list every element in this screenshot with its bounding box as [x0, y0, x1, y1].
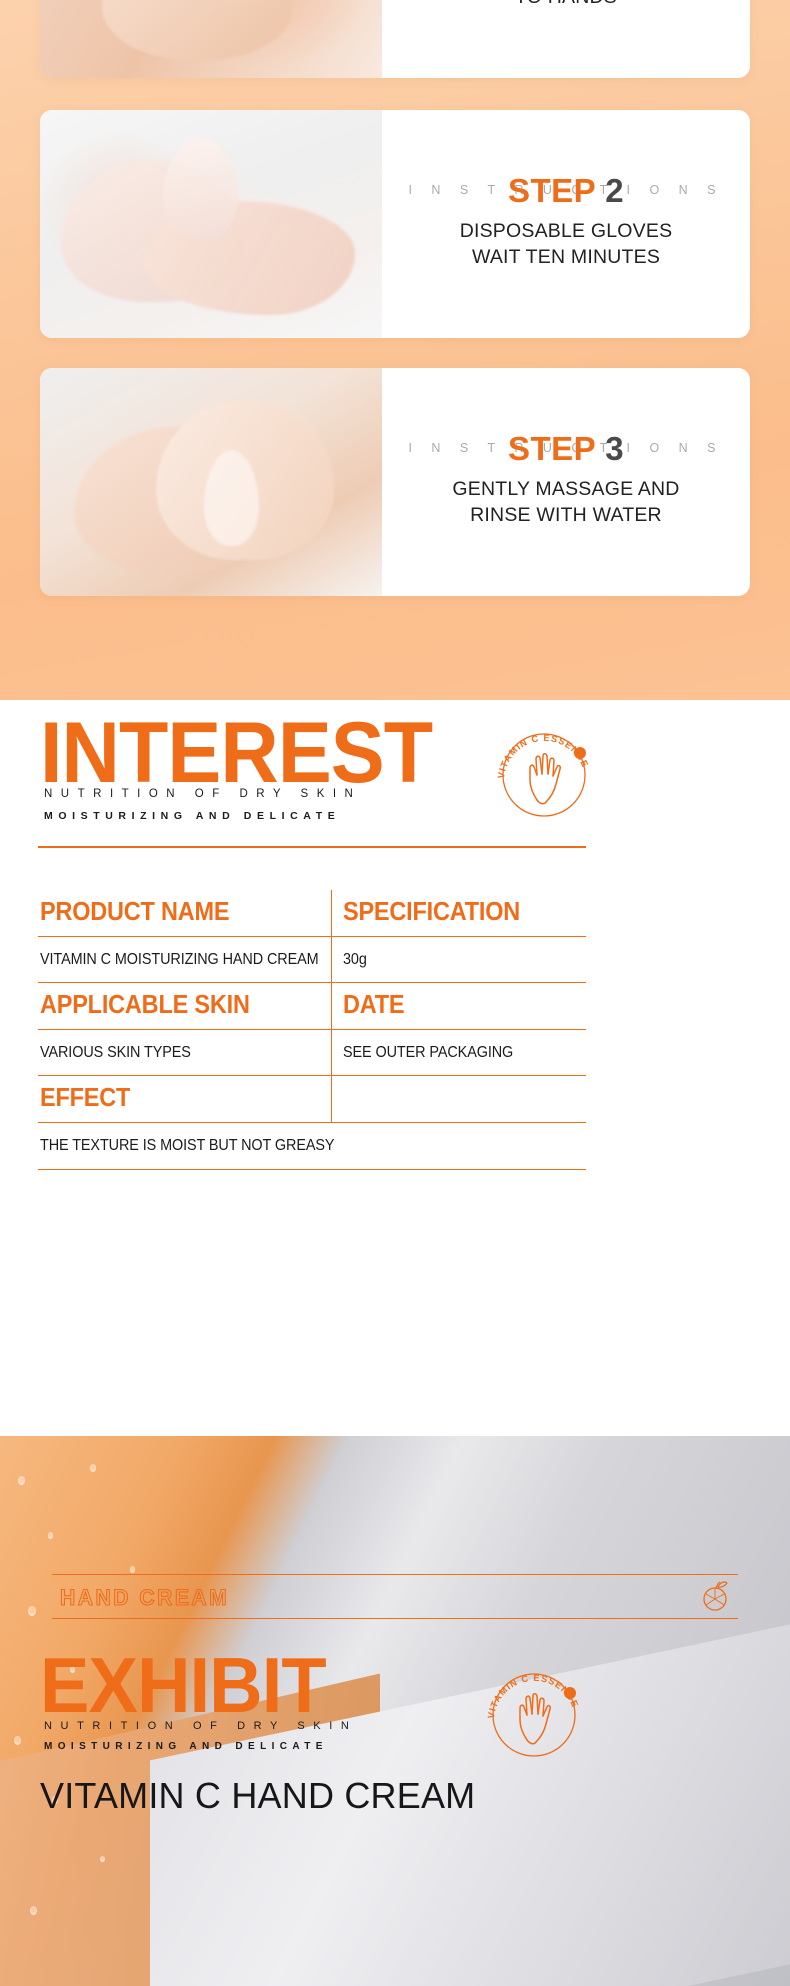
exhibit-heading-block: EXHIBIT NUTRITION OF DRY SKIN MOISTURIZI…: [0, 1648, 790, 1778]
table-row: APPLICABLE SKIN DATE: [38, 983, 586, 1030]
step-2-photo: [40, 110, 382, 338]
orange-fruit-icon: [700, 1578, 732, 1612]
step-2-label: STEP 2: [508, 172, 624, 209]
step-3-line-1: GENTLY MASSAGE AND: [452, 477, 679, 503]
table-header-cell-empty: [332, 1076, 586, 1123]
step-2-text: I N S T R U C T I O N S STEP 2 DISPOSABL…: [382, 110, 750, 338]
interest-heading-block: INTEREST NUTRITION OF DRY SKIN MOISTURIZ…: [0, 700, 790, 850]
product-detail-page: I N S T R U C T I O N S STEP 1 APPLY EVE…: [0, 0, 790, 1986]
value-date: SEE OUTER PACKAGING: [343, 1045, 569, 1061]
step-3-photo: [40, 368, 382, 596]
value-effect: THE TEXTURE IS MOIST BUT NOT GREASY: [40, 1138, 548, 1154]
vitamin-c-essence-badge: VITAMIN C ESSENCE: [482, 1662, 586, 1766]
step-card-1: I N S T R U C T I O N S STEP 1 APPLY EVE…: [40, 0, 750, 78]
table-header-cell: APPLICABLE SKIN: [38, 983, 332, 1030]
hand-icon: [530, 754, 560, 804]
table-header-cell: SPECIFICATION: [332, 890, 586, 937]
hand-cream-rule-top: [52, 1574, 738, 1575]
step-2-line-2: WAIT TEN MINUTES: [460, 245, 673, 271]
header-specification: SPECIFICATION: [343, 900, 566, 926]
interest-divider: [38, 846, 586, 848]
step-3-line-2: RINSE WITH WATER: [452, 503, 679, 529]
interest-overlay-tagline: MOISTURIZING AND DELICATE: [44, 810, 340, 822]
interest-title: INTEREST: [40, 714, 432, 793]
value-product-name: VITAMIN C MOISTURIZING HAND CREAM: [40, 952, 311, 968]
exhibit-title: EXHIBIT: [40, 1648, 326, 1722]
specification-table: PRODUCT NAME SPECIFICATION VITAMIN C MOI…: [38, 890, 586, 1170]
table-row: VITAMIN C MOISTURIZING HAND CREAM 30g: [38, 937, 586, 983]
orange-dot-icon: [564, 1687, 576, 1699]
step-3-label: STEP 3: [508, 430, 624, 467]
table-value-cell: VITAMIN C MOISTURIZING HAND CREAM: [38, 937, 332, 983]
table-row: EFFECT: [38, 1076, 586, 1123]
table-header-cell: DATE: [332, 983, 586, 1030]
step-2-heading: I N S T R U C T I O N S STEP 2: [508, 172, 624, 209]
step-1-text: I N S T R U C T I O N S STEP 1 APPLY EVE…: [382, 0, 750, 78]
table-value-cell: 30g: [332, 937, 586, 983]
interest-overlay-subtitle: NUTRITION OF DRY SKIN: [44, 788, 361, 800]
instruction-steps-section: I N S T R U C T I O N S STEP 1 APPLY EVE…: [0, 0, 790, 700]
exhibit-overlay-tagline: MOISTURIZING AND DELICATE: [44, 1741, 328, 1752]
hand-cream-rule-bottom: [52, 1618, 738, 1619]
step-1-description: APPLY EVENLY TO HANDS: [494, 0, 638, 10]
exhibit-overlay-subtitle: NUTRITION OF DRY SKIN: [44, 1720, 357, 1732]
step-2-description: DISPOSABLE GLOVES WAIT TEN MINUTES: [460, 219, 673, 270]
step-3-description: GENTLY MASSAGE AND RINSE WITH WATER: [452, 477, 679, 528]
step-card-2: I N S T R U C T I O N S STEP 2 DISPOSABL…: [40, 110, 750, 338]
interest-section: INTEREST NUTRITION OF DRY SKIN MOISTURIZ…: [0, 700, 790, 1436]
hand-icon: [520, 1694, 550, 1744]
header-effect: EFFECT: [40, 1086, 308, 1112]
hand-cream-tag: HAND CREAM: [60, 1580, 229, 1615]
vitamin-c-essence-badge: VITAMIN C ESSENCE: [492, 722, 596, 826]
step-card-3: I N S T R U C T I O N S STEP 3 GENTLY MA…: [40, 368, 750, 596]
table-row: PRODUCT NAME SPECIFICATION: [38, 890, 586, 937]
step-1-photo: [40, 0, 382, 78]
value-specification: 30g: [343, 952, 569, 968]
step-2-line-1: DISPOSABLE GLOVES: [460, 219, 673, 245]
table-row: THE TEXTURE IS MOIST BUT NOT GREASY: [38, 1123, 586, 1170]
table-value-cell: THE TEXTURE IS MOIST BUT NOT GREASY: [38, 1123, 586, 1170]
table-value-cell: SEE OUTER PACKAGING: [332, 1030, 586, 1076]
step-3-text: I N S T R U C T I O N S STEP 3 GENTLY MA…: [382, 368, 750, 596]
table-row: VARIOUS SKIN TYPES SEE OUTER PACKAGING: [38, 1030, 586, 1076]
table-header-cell: EFFECT: [38, 1076, 332, 1123]
header-date: DATE: [343, 993, 566, 1019]
header-product-name: PRODUCT NAME: [40, 900, 308, 926]
header-applicable-skin: APPLICABLE SKIN: [40, 993, 308, 1019]
value-applicable-skin: VARIOUS SKIN TYPES: [40, 1045, 311, 1061]
step-3-heading: I N S T R U C T I O N S STEP 3: [508, 430, 624, 467]
exhibit-product-title: VITAMIN C HAND CREAM: [40, 1775, 475, 1817]
table-header-cell: PRODUCT NAME: [38, 890, 332, 937]
orange-dot-icon: [574, 747, 586, 759]
step-1-line-2: TO HANDS: [494, 0, 638, 10]
table-value-cell: VARIOUS SKIN TYPES: [38, 1030, 332, 1076]
